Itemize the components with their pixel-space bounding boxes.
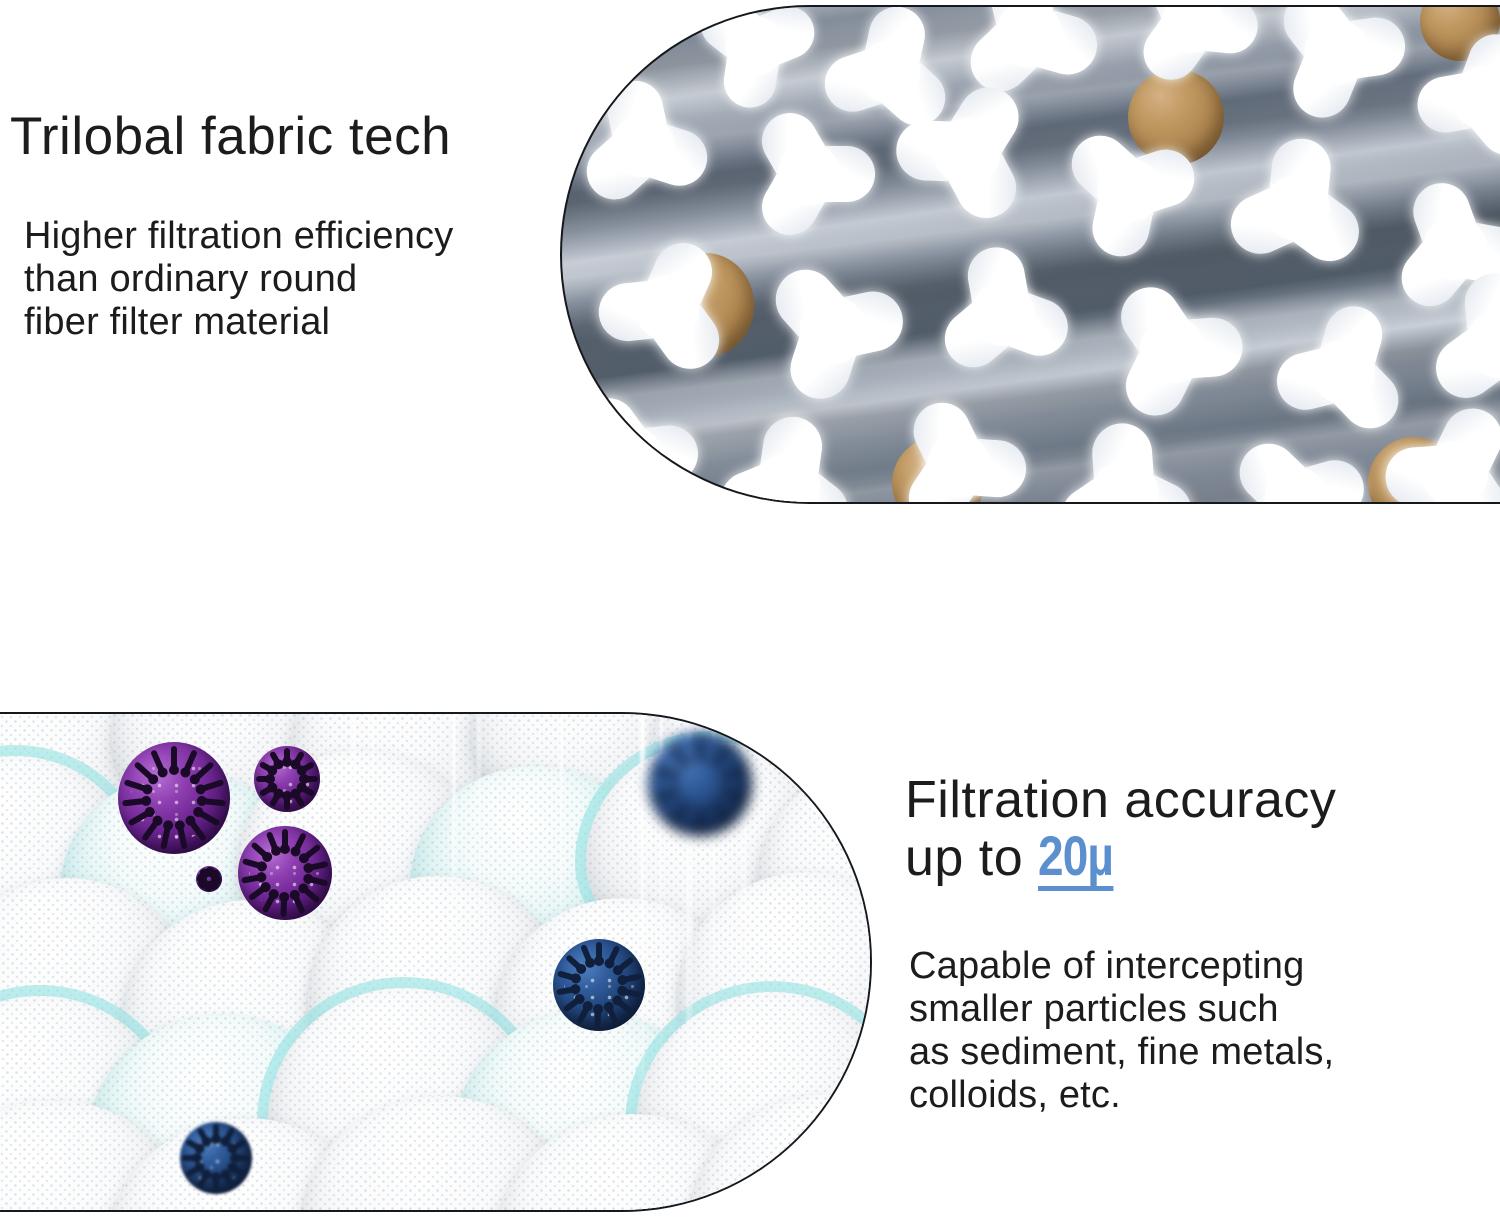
bottom-body-line-4: colloids, etc. bbox=[909, 1074, 1121, 1116]
top-feature-section: Trilobal fabric tech Higher filtration e… bbox=[0, 0, 1500, 600]
top-body-line-2: than ordinary round bbox=[24, 258, 357, 300]
top-body-text: Higher filtration efficiency than ordina… bbox=[24, 215, 570, 344]
virus-particle-small bbox=[196, 866, 222, 892]
top-body-line-3: fiber filter material bbox=[24, 301, 330, 343]
bottom-body-line-1: Capable of intercepting bbox=[909, 945, 1304, 987]
trilobal-fiber bbox=[1029, 398, 1221, 504]
virus-particle-navy bbox=[648, 732, 752, 836]
virus-particle-navy bbox=[553, 939, 645, 1031]
bottom-body-text: Capable of intercepting smaller particle… bbox=[909, 945, 1490, 1117]
virus-particle bbox=[254, 746, 320, 812]
bottom-body-line-3: as sediment, fine metals, bbox=[909, 1031, 1334, 1073]
virus-particle bbox=[118, 742, 230, 854]
filtration-accuracy-value: 20µ bbox=[1038, 828, 1113, 891]
bottom-heading: Filtration accuracy up to 20µ bbox=[905, 772, 1490, 891]
top-heading: Trilobal fabric tech bbox=[10, 108, 570, 165]
membrane-image-panel bbox=[0, 712, 872, 1212]
virus-particle-navy bbox=[180, 1122, 252, 1194]
bottom-body-line-2: smaller particles such bbox=[909, 988, 1279, 1030]
trilobal-fiber-image-panel bbox=[560, 5, 1500, 504]
virus-particle bbox=[238, 826, 332, 920]
top-text-block: Trilobal fabric tech Higher filtration e… bbox=[10, 108, 570, 344]
bottom-text-block: Filtration accuracy up to 20µ Capable of… bbox=[905, 772, 1490, 1117]
bottom-heading-line-2-prefix: up to bbox=[905, 829, 1038, 887]
top-body-line-1: Higher filtration efficiency bbox=[24, 215, 453, 257]
bottom-heading-line-1: Filtration accuracy bbox=[905, 771, 1336, 829]
